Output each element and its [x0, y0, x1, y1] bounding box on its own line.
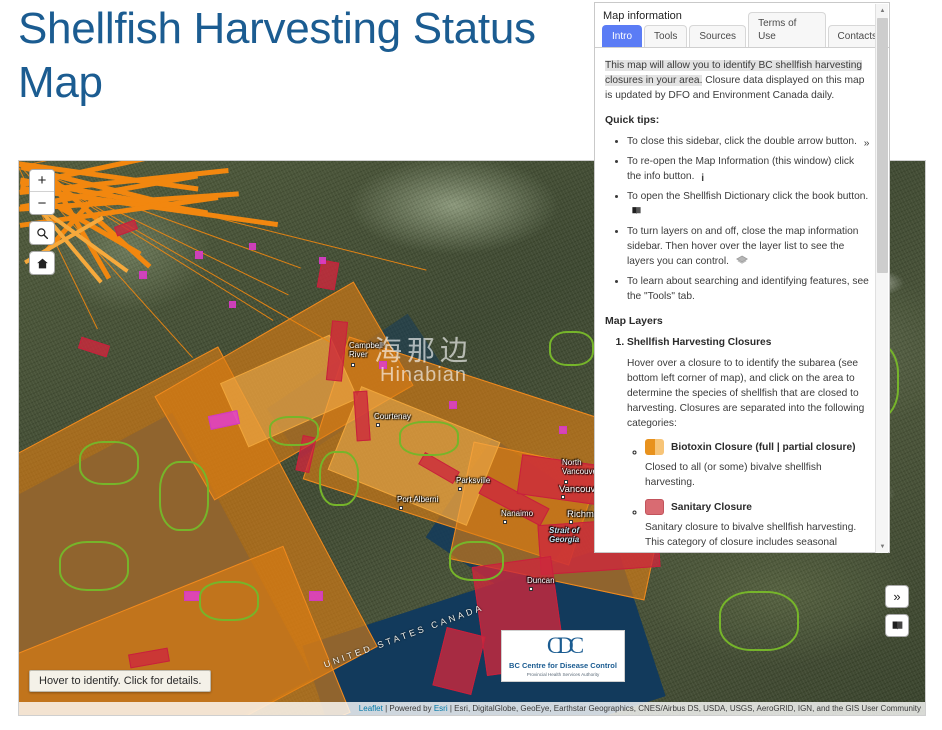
bccdc-logo-name: BC Centre for Disease Control	[509, 661, 617, 670]
book-icon	[631, 205, 642, 221]
list-item[interactable]: Sanitary Closure Sanitary closure to biv…	[645, 499, 871, 552]
closure-polygon-chemical[interactable]	[319, 257, 326, 264]
tip-text: To re-open the Map Information (this win…	[627, 156, 854, 182]
open-area-outline	[159, 461, 209, 531]
bccdc-logo: CDC BC Centre for Disease Control Provin…	[501, 630, 625, 682]
tip-text: To close this sidebar, click the double …	[627, 136, 857, 147]
list-item: To open the Shellfish Dictionary click t…	[627, 189, 871, 221]
map-city-marker	[399, 506, 403, 510]
hover-status-box: Hover to identify. Click for details.	[29, 670, 211, 692]
info-icon: i	[701, 171, 704, 186]
closure-polygon-chemical[interactable]	[139, 271, 147, 279]
biotoxin-note: Closed to all (or some) bivalve shellfis…	[645, 460, 871, 490]
quick-tips-list: To close this sidebar, click the double …	[605, 134, 871, 304]
map-layers-heading: Map Layers	[605, 314, 871, 329]
map-city-marker	[564, 480, 568, 484]
layers-icon	[736, 255, 748, 271]
tab-sources[interactable]: Sources	[689, 25, 746, 47]
tab-tools[interactable]: Tools	[644, 25, 687, 47]
closure-polygon-chemical[interactable]	[184, 591, 200, 601]
layer-1-description: Hover over a closure to to identify the …	[627, 356, 871, 431]
open-area-outline	[449, 541, 504, 581]
sidebar-header: Map information	[595, 3, 889, 26]
open-area-outline	[319, 451, 359, 506]
map-city-marker	[569, 520, 573, 524]
sidebar-scrollbar[interactable]: ▲ ▼	[875, 4, 888, 553]
open-area-outline	[59, 541, 129, 591]
map-attribution: Leaflet | Powered by Esri | Esri, Digita…	[19, 702, 925, 715]
map-information-sidebar[interactable]: Map information Intro Tools Sources Term…	[594, 2, 890, 553]
list-item: To learn about searching and identifying…	[627, 274, 871, 304]
shellfish-dictionary-book-icon[interactable]	[885, 614, 909, 637]
open-area-outline	[719, 591, 799, 651]
scroll-down-arrow-icon[interactable]: ▼	[876, 540, 889, 553]
map-city-marker	[458, 487, 462, 491]
home-icon[interactable]	[30, 252, 54, 274]
leaflet-link[interactable]: Leaflet	[359, 704, 383, 713]
zoom-control-group[interactable]: + −	[29, 169, 55, 215]
tip-text: To open the Shellfish Dictionary click t…	[627, 191, 868, 202]
legend-sanitary-closure[interactable]: Sanitary Closure	[645, 499, 871, 515]
open-area-outline	[199, 581, 259, 621]
intro-paragraph: This map will allow you to identify BC s…	[605, 58, 871, 103]
quick-tips-heading: Quick tips:	[605, 113, 871, 128]
bccdc-logo-mark: CDC	[547, 634, 579, 657]
closure-legend-list: Biotoxin Closure (full | partial closure…	[627, 439, 871, 552]
legend-biotoxin-closure[interactable]: Biotoxin Closure (full | partial closure…	[645, 439, 871, 455]
sidebar-tabs[interactable]: Intro Tools Sources Terms of Use Contact…	[595, 26, 889, 48]
map-city-marker	[561, 495, 565, 499]
list-item: To close this sidebar, click the double …	[627, 134, 871, 151]
map-city-marker	[529, 587, 533, 591]
tab-intro[interactable]: Intro	[602, 25, 642, 47]
scroll-up-arrow-icon[interactable]: ▲	[876, 4, 889, 17]
closure-polygon-chemical[interactable]	[559, 426, 567, 434]
zoom-in-button[interactable]: +	[30, 170, 54, 192]
map-layers-list: Shellfish Harvesting Closures Hover over…	[605, 335, 871, 552]
tip-text: To learn about searching and identifying…	[627, 276, 869, 302]
open-area-outline	[269, 416, 319, 446]
list-item: To re-open the Map Information (this win…	[627, 154, 871, 186]
scrollbar-thumb[interactable]	[877, 18, 888, 273]
open-area-outline	[79, 441, 139, 485]
closure-polygon-chemical[interactable]	[379, 361, 387, 369]
map-controls[interactable]: + −	[29, 169, 55, 281]
layer-1-title: Shellfish Harvesting Closures	[627, 337, 771, 348]
tab-panel-intro: This map will allow you to identify BC s…	[595, 48, 889, 552]
map-city-marker	[351, 363, 355, 367]
home-control-group[interactable]	[29, 251, 55, 275]
sanitary-note-plain: Sanitary closure to bivalve shellfish ha…	[645, 522, 856, 552]
legend-label: Biotoxin Closure (full | partial closure…	[671, 440, 856, 455]
legend-label: Sanitary Closure	[671, 500, 752, 515]
closure-polygon-chemical[interactable]	[195, 251, 203, 259]
zoom-out-button[interactable]: −	[30, 192, 54, 214]
tab-terms-of-use[interactable]: Terms of Use	[748, 12, 825, 47]
esri-link[interactable]: Esri	[434, 704, 448, 713]
bccdc-logo-subtitle: Provincial Health Services Authority	[527, 672, 600, 677]
list-item[interactable]: Biotoxin Closure (full | partial closure…	[645, 439, 871, 490]
closure-polygon-chemical[interactable]	[449, 401, 457, 409]
open-area-outline	[549, 331, 594, 366]
search-control-group[interactable]	[29, 221, 55, 245]
open-area-outline	[399, 421, 459, 456]
list-item: To turn layers on and off, close the map…	[627, 224, 871, 271]
map-city-marker	[503, 520, 507, 524]
map-side-buttons[interactable]: »	[885, 585, 911, 643]
sanitary-swatch-icon	[645, 499, 664, 515]
closure-polygon-chemical[interactable]	[309, 591, 323, 601]
sanitary-note: Sanitary closure to bivalve shellfish ha…	[645, 520, 871, 552]
closure-polygon-chemical[interactable]	[229, 301, 236, 308]
map-city-marker	[376, 423, 380, 427]
attribution-sources: | Esri, DigitalGlobe, GeoEye, Earthstar …	[450, 704, 921, 713]
search-icon[interactable]	[30, 222, 54, 244]
list-item: Shellfish Harvesting Closures Hover over…	[627, 335, 871, 552]
attribution-powered-by: | Powered by	[385, 704, 432, 713]
collapse-sidebar-button[interactable]: »	[885, 585, 909, 608]
biotoxin-swatch-icon	[645, 439, 664, 455]
double-chevron-icon: »	[864, 136, 870, 151]
closure-polygon-chemical[interactable]	[249, 243, 256, 250]
